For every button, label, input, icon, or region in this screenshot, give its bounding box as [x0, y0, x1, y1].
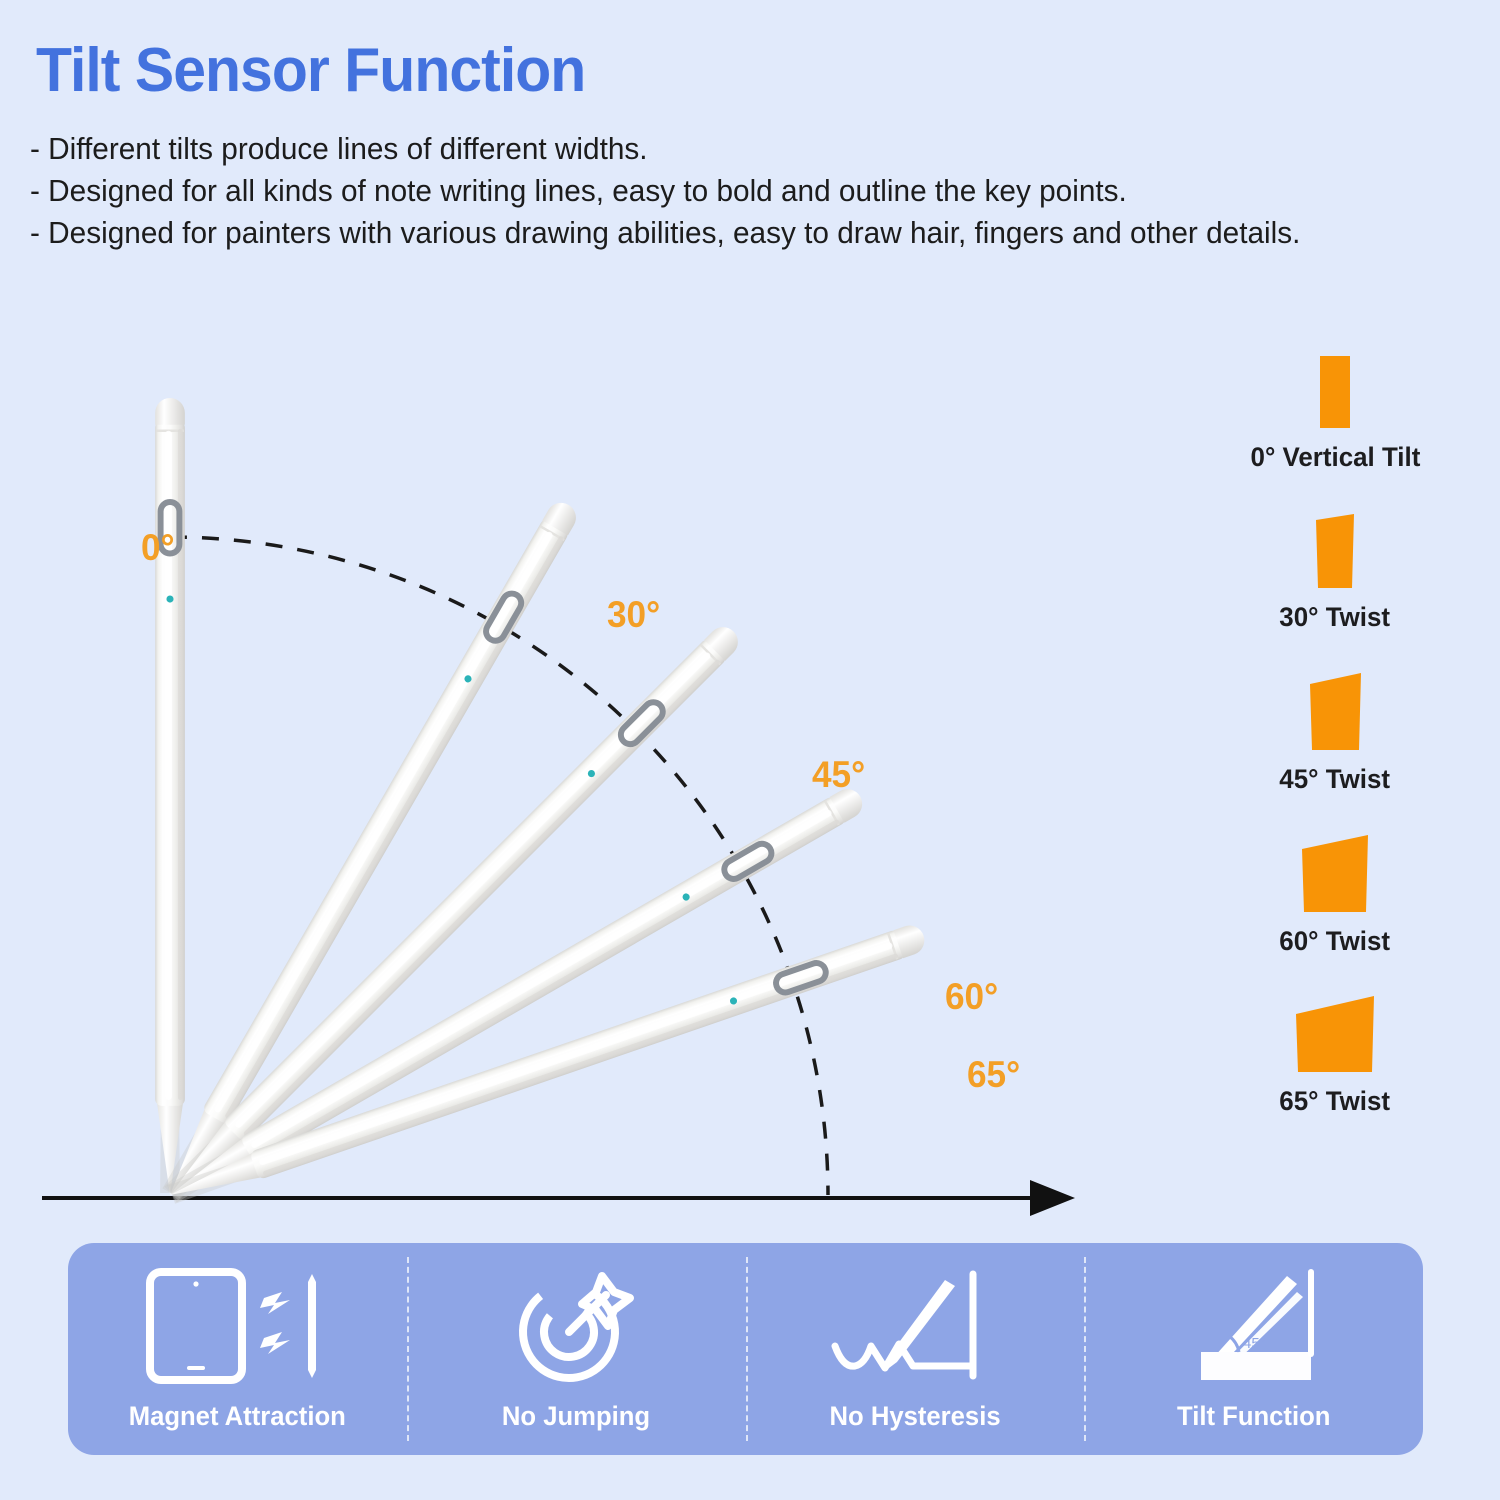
stroke-swatch-65 [1280, 994, 1390, 1076]
legend-label: 60° Twist [1280, 926, 1391, 957]
page-title: Tilt Sensor Function [36, 36, 585, 106]
angle-label-65: 65° [967, 1054, 1020, 1096]
tablet-magnet-icon [142, 1265, 332, 1387]
feature-label: No Jumping [502, 1401, 650, 1432]
tilt-angle-note: 45° [1243, 1335, 1266, 1352]
angle-label-60: 60° [945, 976, 998, 1018]
stroke-swatch-45 [1280, 670, 1390, 754]
feature-no-jumping[interactable]: No Jumping [407, 1243, 746, 1455]
feature-label: Magnet Attraction [129, 1401, 346, 1432]
feature-bullet-list: - Different tilts produce lines of diffe… [30, 128, 1480, 254]
bullet-line: - Different tilts produce lines of diffe… [30, 128, 1422, 170]
tilt-angle-diagram: 0° 30° 45° 60° 65° [0, 255, 1160, 1220]
bullet-line: - Designed for painters with various dra… [30, 212, 1422, 254]
tilt-angle-icon: 45° [1169, 1265, 1339, 1387]
feature-label: Tilt Function [1177, 1401, 1330, 1432]
legend-label: 30° Twist [1280, 602, 1391, 633]
feature-magnet-attraction[interactable]: Magnet Attraction [68, 1243, 407, 1455]
legend-item: 45° Twist [1175, 670, 1495, 795]
feature-highlight-bar: Magnet Attraction No Jumping [68, 1243, 1423, 1455]
stroke-swatch-30 [1280, 510, 1390, 592]
bullet-line: - Designed for all kinds of note writing… [30, 170, 1422, 212]
feature-label: No Hysteresis [829, 1401, 1000, 1432]
stroke-width-legend: 0° Vertical Tilt 30° Twist 45° Twist 60°… [1175, 350, 1495, 1150]
target-dart-icon [514, 1265, 639, 1387]
stroke-swatch-60 [1280, 832, 1390, 916]
legend-item: 65° Twist [1175, 994, 1495, 1117]
legend-item: 60° Twist [1175, 832, 1495, 957]
legend-label: 45° Twist [1280, 764, 1391, 795]
feature-tilt-function[interactable]: 45° Tilt Function [1084, 1243, 1423, 1455]
angle-label-30: 30° [607, 594, 660, 636]
legend-item: 0° Vertical Tilt [1175, 350, 1495, 473]
legend-label: 65° Twist [1280, 1086, 1391, 1117]
feature-no-hysteresis[interactable]: No Hysteresis [746, 1243, 1085, 1455]
baseline-arrowhead [1030, 1180, 1075, 1216]
stylus-0deg [155, 398, 185, 1195]
zigzag-pen-icon [827, 1265, 1002, 1387]
angle-label-0: 0° [141, 527, 175, 569]
angle-label-45: 45° [812, 754, 865, 796]
legend-label: 0° Vertical Tilt [1250, 442, 1420, 473]
stroke-swatch-0 [1280, 350, 1390, 432]
infographic-page: Tilt Sensor Function - Different tilts p… [0, 0, 1500, 1500]
legend-item: 30° Twist [1175, 510, 1495, 633]
